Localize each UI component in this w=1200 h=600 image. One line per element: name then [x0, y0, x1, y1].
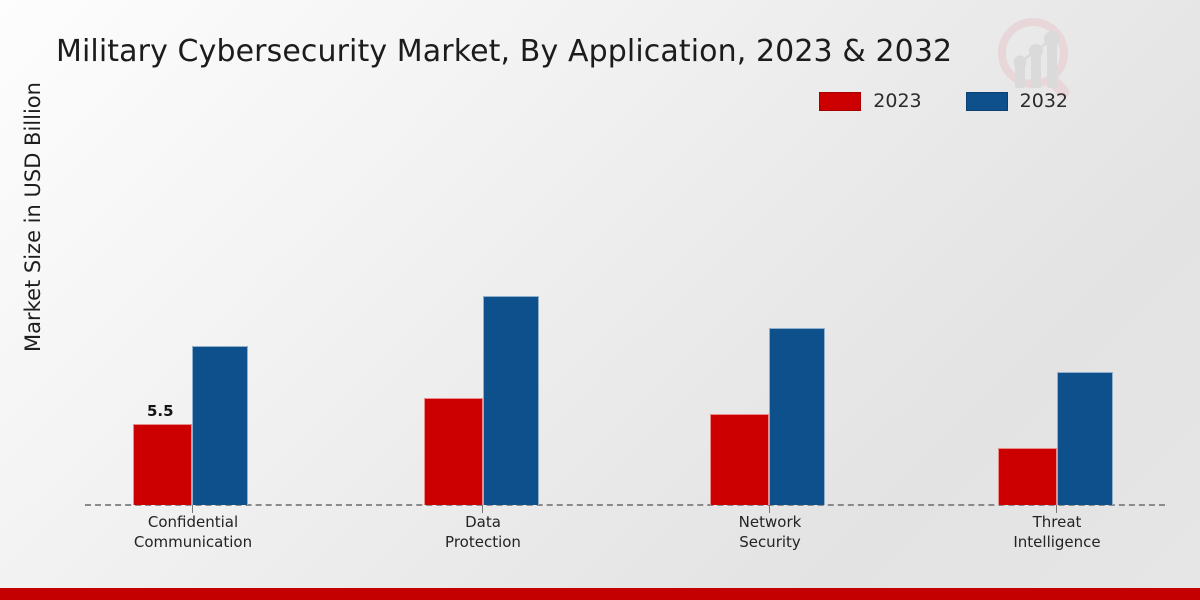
x-axis-label-threat-intelligence: Threat Intelligence [942, 513, 1172, 553]
bar-2032-network-security[interactable] [769, 328, 825, 505]
x-axis-label-line-2: Security [655, 533, 885, 553]
x-axis-label-line-2: Communication [78, 533, 308, 553]
bar-2032-threat-intelligence[interactable] [1057, 372, 1113, 505]
x-axis-label-line-1: Network [655, 513, 885, 533]
bar-group-data-protection [424, 296, 539, 505]
x-axis-tick-3 [769, 505, 770, 513]
x-axis-label-line-1: Data [368, 513, 598, 533]
plot-area: 5.5 Confidential Communication [0, 0, 1200, 600]
bar-2023-threat-intelligence[interactable] [998, 448, 1057, 505]
x-axis-tick-4 [1056, 505, 1057, 513]
bar-group-threat-intelligence [998, 372, 1113, 505]
chart-canvas: Military Cybersecurity Market, By Applic… [0, 0, 1200, 600]
x-axis-tick-1 [192, 505, 193, 513]
bar-2023-data-protection[interactable] [424, 398, 483, 506]
bar-group-confidential-communication: 5.5 [133, 346, 248, 505]
x-axis-label-line-2: Intelligence [942, 533, 1172, 553]
x-axis-tick-2 [482, 505, 483, 513]
x-axis-label-line-2: Protection [368, 533, 598, 553]
x-axis-label-line-1: Threat [942, 513, 1172, 533]
bar-group-network-security [710, 328, 825, 505]
x-axis-label-data-protection: Data Protection [368, 513, 598, 553]
bar-value-label-2023-confidential-communication: 5.5 [147, 402, 174, 420]
bar-2023-network-security[interactable] [710, 414, 769, 505]
x-axis-label-line-1: Confidential [78, 513, 308, 533]
x-axis-label-confidential-communication: Confidential Communication [78, 513, 308, 553]
x-axis-label-network-security: Network Security [655, 513, 885, 553]
bar-2023-confidential-communication[interactable] [133, 424, 192, 505]
bar-2032-data-protection[interactable] [483, 296, 539, 505]
bar-2032-confidential-communication[interactable] [192, 346, 248, 505]
bottom-accent-strip [0, 588, 1200, 600]
